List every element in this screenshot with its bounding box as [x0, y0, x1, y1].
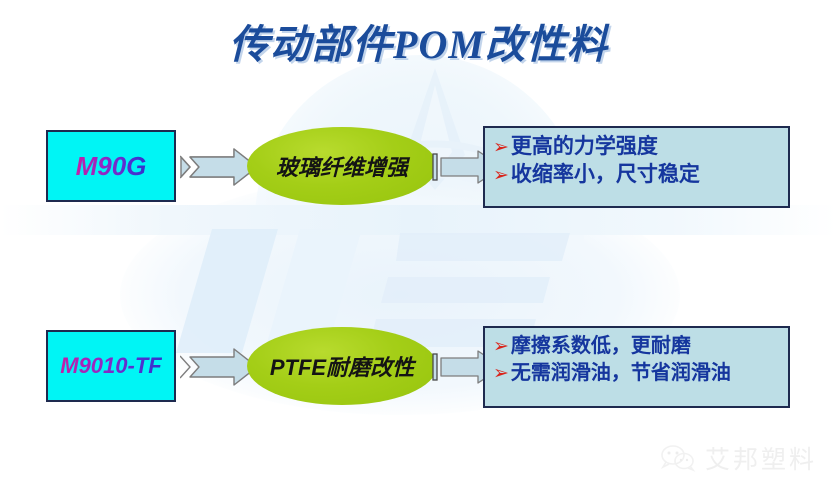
wechat-icon	[659, 444, 697, 472]
benefit-line: ➢ 收缩率小，尺寸稳定	[493, 161, 782, 189]
grade-label-1: M90G	[76, 151, 147, 182]
footer-brand-label: 艾邦塑料	[705, 440, 817, 476]
bullet-arrow-icon: ➢	[493, 364, 509, 383]
slide-canvas: 传动部件POM改性料 M90G 玻璃纤维增强 ➢ 更高的力学强度 ➢ 收缩率小，…	[0, 0, 837, 492]
benefit-text: 摩擦系数低，更耐磨	[511, 333, 691, 360]
slide-title: 传动部件POM改性料	[0, 12, 837, 70]
benefit-line: ➢ 无需润滑油，节省润滑油	[493, 360, 782, 387]
bullet-arrow-icon: ➢	[493, 166, 509, 185]
benefit-text: 更高的力学强度	[511, 133, 658, 161]
modification-latin-2: PTFE	[270, 355, 326, 380]
bullet-arrow-icon: ➢	[493, 138, 509, 157]
bullet-arrow-icon: ➢	[493, 337, 509, 356]
grade-label-2: M9010-TF	[60, 353, 161, 379]
modification-cjk-2: 耐磨改性	[326, 355, 414, 380]
footer-watermark: 艾邦塑料	[659, 440, 817, 476]
benefit-line: ➢ 更高的力学强度	[493, 133, 782, 161]
grade-box-2[interactable]: M9010-TF	[46, 330, 176, 402]
modification-label-2: PTFE耐磨改性	[270, 350, 414, 382]
modification-ellipse-1[interactable]: 玻璃纤维增强	[247, 127, 437, 205]
modification-ellipse-2[interactable]: PTFE耐磨改性	[247, 327, 437, 405]
flow-row-2: M9010-TF PTFE耐磨改性 ➢ 摩擦系数低，更耐磨 ➢ 无需润滑油，节省…	[0, 330, 837, 420]
benefit-box-2[interactable]: ➢ 摩擦系数低，更耐磨 ➢ 无需润滑油，节省润滑油	[483, 326, 790, 408]
benefit-box-1[interactable]: ➢ 更高的力学强度 ➢ 收缩率小，尺寸稳定	[483, 126, 790, 208]
benefit-line: ➢ 摩擦系数低，更耐磨	[493, 333, 782, 360]
flow-row-1: M90G 玻璃纤维增强 ➢ 更高的力学强度 ➢ 收缩率小，尺寸稳定	[0, 130, 837, 220]
grade-box-1[interactable]: M90G	[46, 130, 176, 202]
benefit-text: 无需润滑油，节省润滑油	[511, 360, 731, 387]
modification-label-1: 玻璃纤维增强	[276, 150, 408, 182]
benefit-text: 收缩率小，尺寸稳定	[511, 161, 700, 189]
